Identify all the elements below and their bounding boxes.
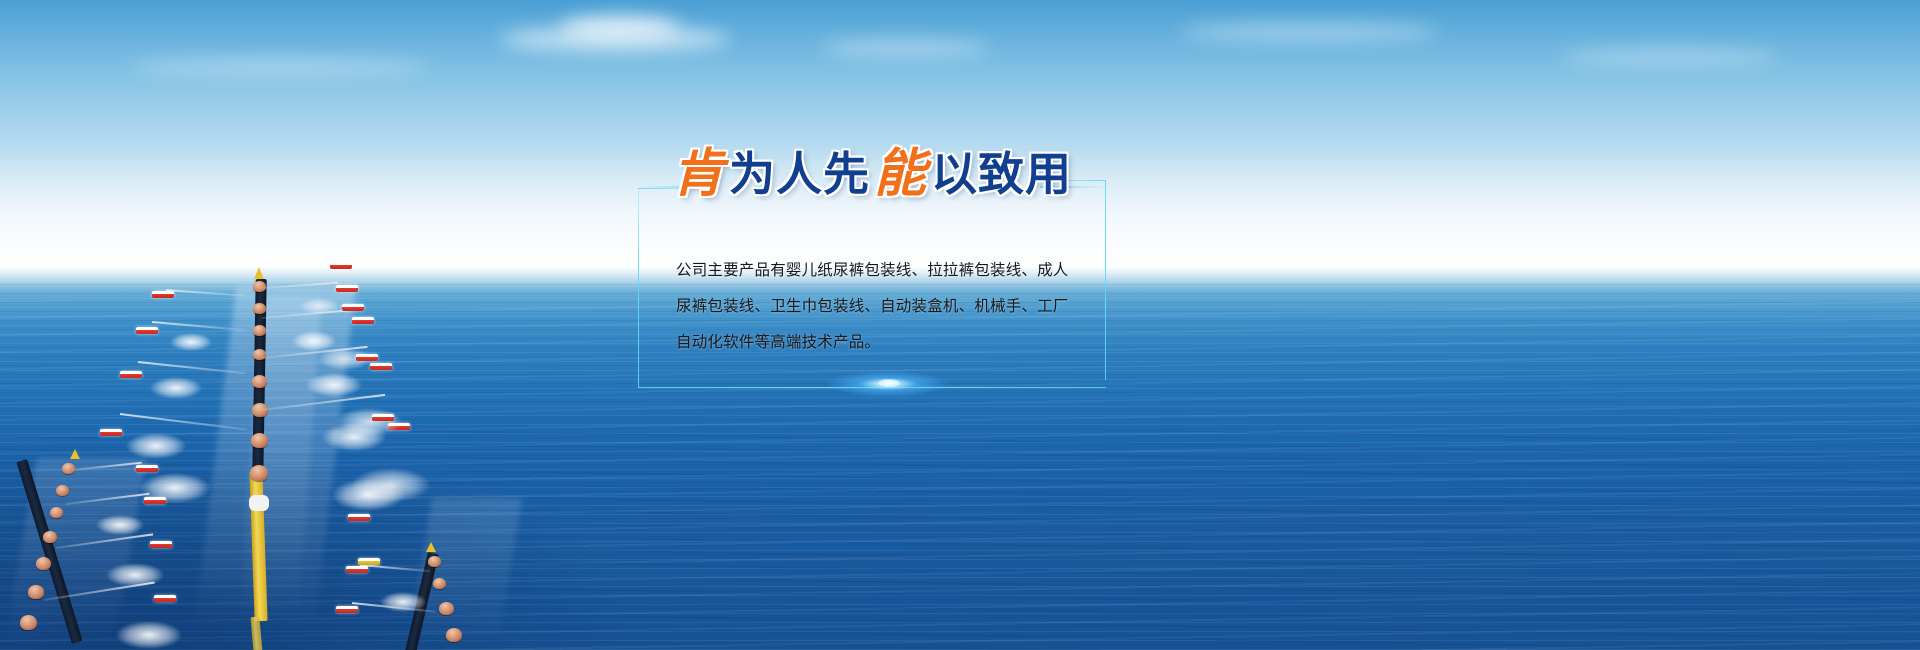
frame-bottom-edge — [638, 387, 1106, 388]
boat-hull-stern — [249, 471, 267, 621]
headline-main-text-1: 为人先 — [729, 151, 870, 197]
rowing-boat — [10, 453, 70, 650]
oar-blade — [154, 595, 176, 602]
oar-blade — [136, 465, 158, 472]
water-splash — [170, 333, 212, 351]
water-splash — [116, 621, 182, 649]
frame-left-edge — [638, 188, 639, 388]
boat-bow — [70, 449, 80, 459]
rower — [28, 585, 44, 599]
oar-blade — [144, 497, 166, 504]
cloud-shape — [560, 16, 680, 38]
cloud-shape — [1180, 22, 1440, 42]
oar-blade — [352, 317, 374, 324]
oar-blade — [336, 606, 358, 613]
water-splash — [300, 298, 340, 314]
oar-blade — [358, 558, 380, 565]
water-splash — [336, 408, 402, 436]
boat-bow — [254, 267, 264, 279]
water-splash — [352, 468, 430, 502]
cloud-shape — [130, 58, 430, 76]
water-splash — [306, 373, 362, 397]
rower — [446, 628, 462, 642]
water-splash — [380, 592, 426, 612]
rower — [253, 303, 266, 314]
oar — [166, 289, 244, 296]
oar-blade — [348, 514, 370, 521]
oar-blade — [150, 541, 172, 548]
rowing-boats-group — [0, 268, 620, 650]
water-splash — [106, 563, 164, 587]
oar-blade — [372, 414, 394, 421]
rower — [252, 375, 267, 388]
boat-bow — [426, 542, 436, 552]
rower — [251, 433, 268, 448]
oar-blade — [336, 285, 358, 292]
hero-description: 公司主要产品有婴儿纸尿裤包装线、拉拉裤包装线、成人尿裤包装线、卫生巾包装线、自动… — [676, 252, 1076, 360]
oar-blade — [330, 262, 352, 269]
rower — [253, 325, 266, 336]
water-splash — [150, 377, 202, 399]
oar-blade — [342, 304, 364, 311]
rower — [250, 465, 268, 481]
headline-accent-char-2: 能 — [874, 148, 927, 200]
oar-blade — [152, 291, 174, 298]
oar-blade — [370, 363, 392, 370]
frame-right-edge — [1105, 180, 1106, 380]
frame-glow-point — [878, 379, 900, 387]
rower — [428, 556, 441, 567]
oar-blade — [136, 327, 158, 334]
rowing-boat — [236, 273, 296, 650]
cloud-shape — [820, 40, 990, 56]
rowing-boat — [420, 546, 480, 650]
hero-banner: 肯 为人先 能 以致用 公司主要产品有婴儿纸尿裤包装线、拉拉裤包装线、成人尿裤包… — [0, 0, 1920, 650]
cloud-shape — [1560, 48, 1780, 66]
oar-blade — [100, 429, 122, 436]
rower — [439, 602, 454, 615]
coxswain — [249, 495, 269, 511]
rower — [36, 557, 51, 570]
oar — [360, 564, 430, 572]
rower — [20, 615, 37, 630]
water-splash — [292, 331, 336, 351]
oar — [152, 321, 244, 331]
headline-main-text-2: 以致用 — [931, 151, 1072, 197]
water-splash — [96, 515, 144, 535]
oar-blade — [120, 371, 142, 378]
oar-blade — [356, 354, 378, 361]
boat-stern-tail — [250, 617, 262, 650]
rower — [50, 507, 63, 518]
rower — [56, 485, 69, 496]
headline-accent-char-1: 肯 — [672, 148, 725, 200]
rower — [433, 578, 446, 589]
rower — [43, 531, 57, 543]
hero-headline: 肯 为人先 能 以致用 — [672, 143, 1072, 205]
water-splash — [126, 433, 186, 459]
oar-blade — [346, 566, 368, 573]
